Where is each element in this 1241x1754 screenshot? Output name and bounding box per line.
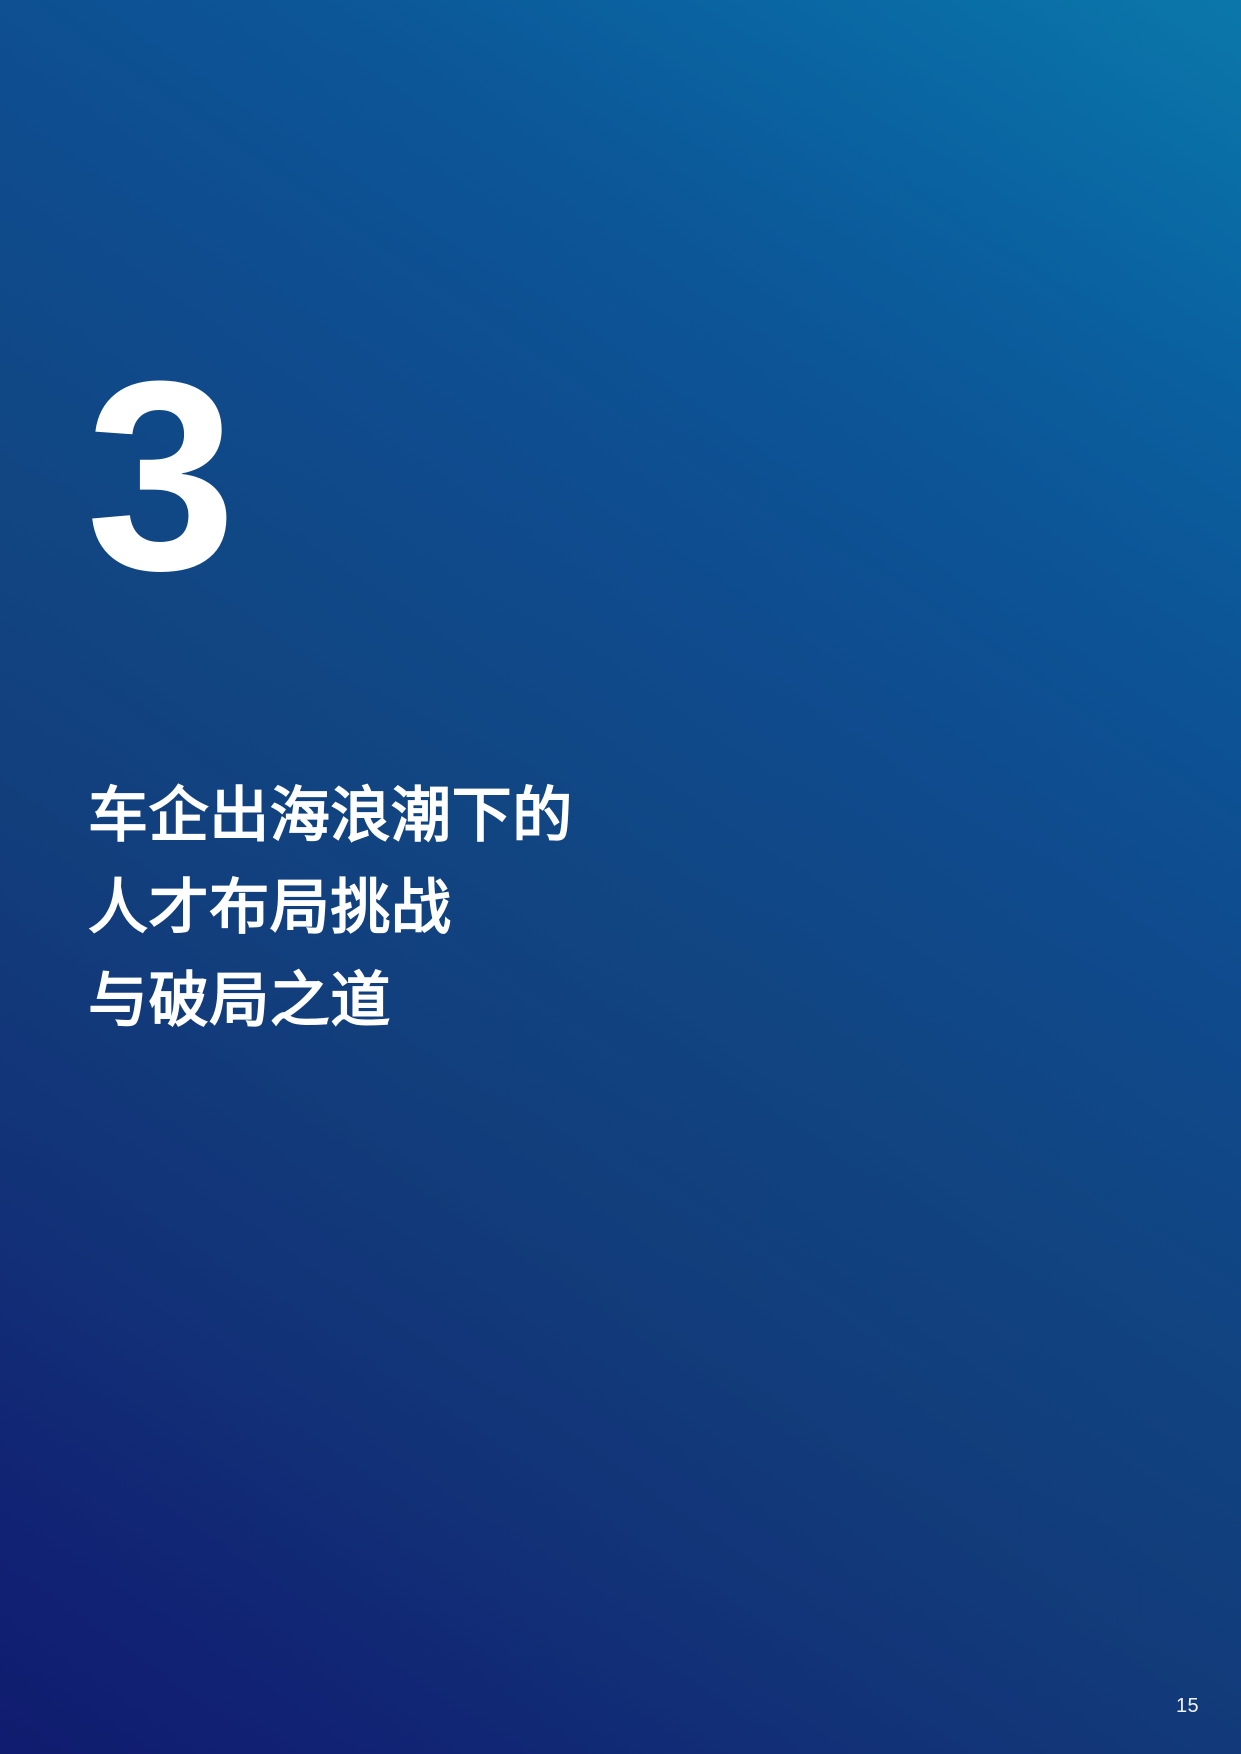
section-divider-page: 3 车企出海浪潮下的 人才布局挑战 与破局之道 15 xyxy=(0,0,1241,1754)
section-number: 3 xyxy=(86,372,231,583)
page-content: 3 车企出海浪潮下的 人才布局挑战 与破局之道 15 xyxy=(0,0,1241,1754)
title-line-3: 与破局之道 xyxy=(88,955,788,1047)
title-line-1: 车企出海浪潮下的 xyxy=(88,770,788,862)
page-title: 车企出海浪潮下的 人才布局挑战 与破局之道 xyxy=(88,770,788,1047)
page-number: 15 xyxy=(1176,1695,1199,1718)
title-line-2: 人才布局挑战 xyxy=(88,862,788,954)
